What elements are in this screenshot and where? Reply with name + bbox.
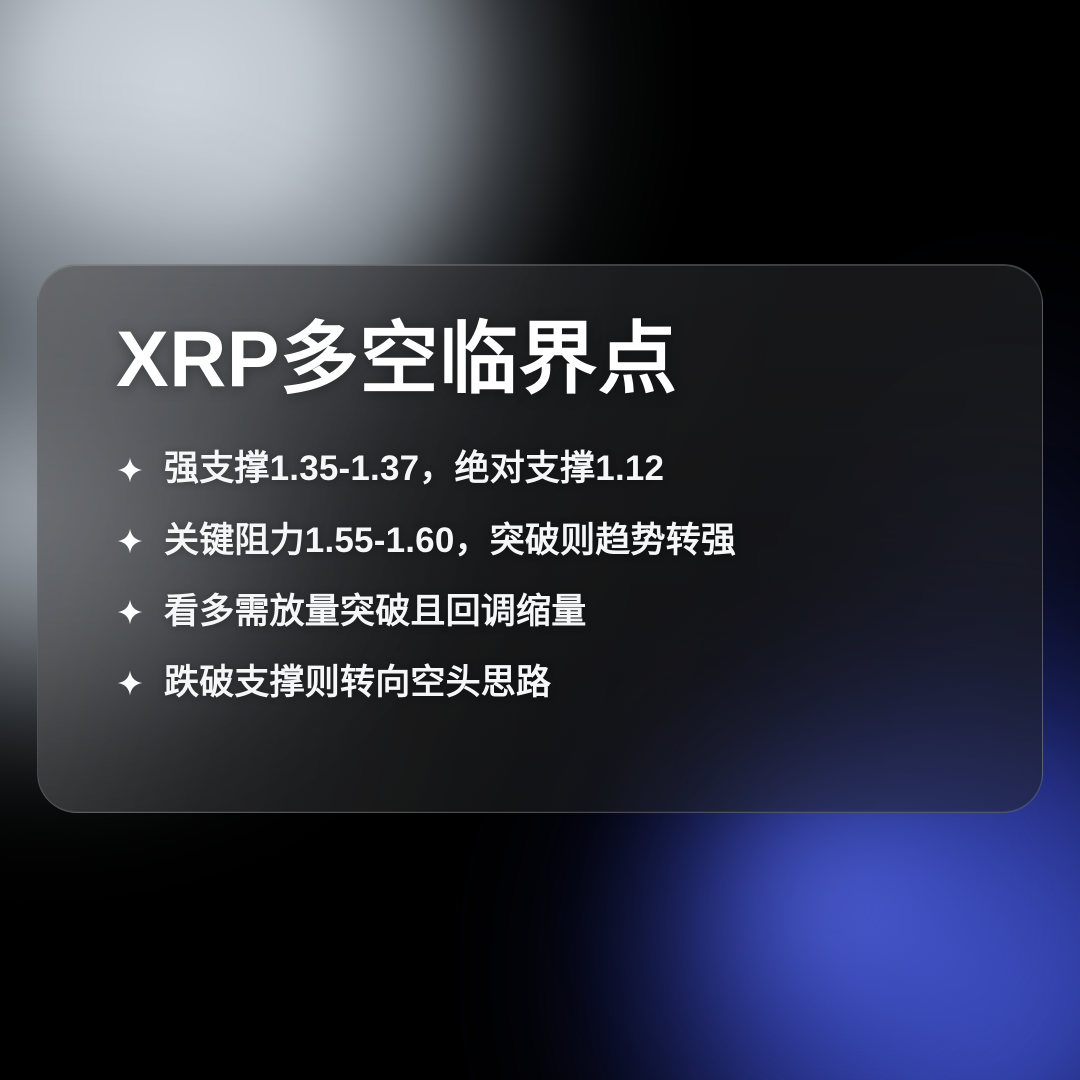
list-item: 跌破支撑则转向空头思路 [116,661,1002,705]
list-item: 关键阻力1.55-1.60，突破则趋势转强 [116,519,1002,563]
sparkle-star-icon [116,665,144,701]
list-item-label: 关键阻力1.55-1.60，突破则趋势转强 [164,519,736,563]
sparkle-star-icon [116,594,144,630]
list-item-label: 看多需放量突破且回调缩量 [164,590,586,634]
list-item: 强支撑1.35-1.37，绝对支撑1.12 [116,447,1002,491]
glass-card: XRP多空临界点 强支撑1.35-1.37，绝对支撑1.12 [37,264,1043,813]
list-item: 看多需放量突破且回调缩量 [116,590,1002,634]
card-title: XRP多空临界点 [116,315,1002,403]
bullet-list: 强支撑1.35-1.37，绝对支撑1.12 关键阻力1.55-1.60，突破则趋… [116,447,1002,704]
card-content: XRP多空临界点 强支撑1.35-1.37，绝对支撑1.12 [116,315,1002,705]
sparkle-star-icon [116,523,144,559]
list-item-label: 强支撑1.35-1.37，绝对支撑1.12 [164,447,664,491]
list-item-label: 跌破支撑则转向空头思路 [164,661,551,705]
sparkle-star-icon [116,452,144,488]
poster-canvas: XRP多空临界点 强支撑1.35-1.37，绝对支撑1.12 [0,0,1080,1080]
